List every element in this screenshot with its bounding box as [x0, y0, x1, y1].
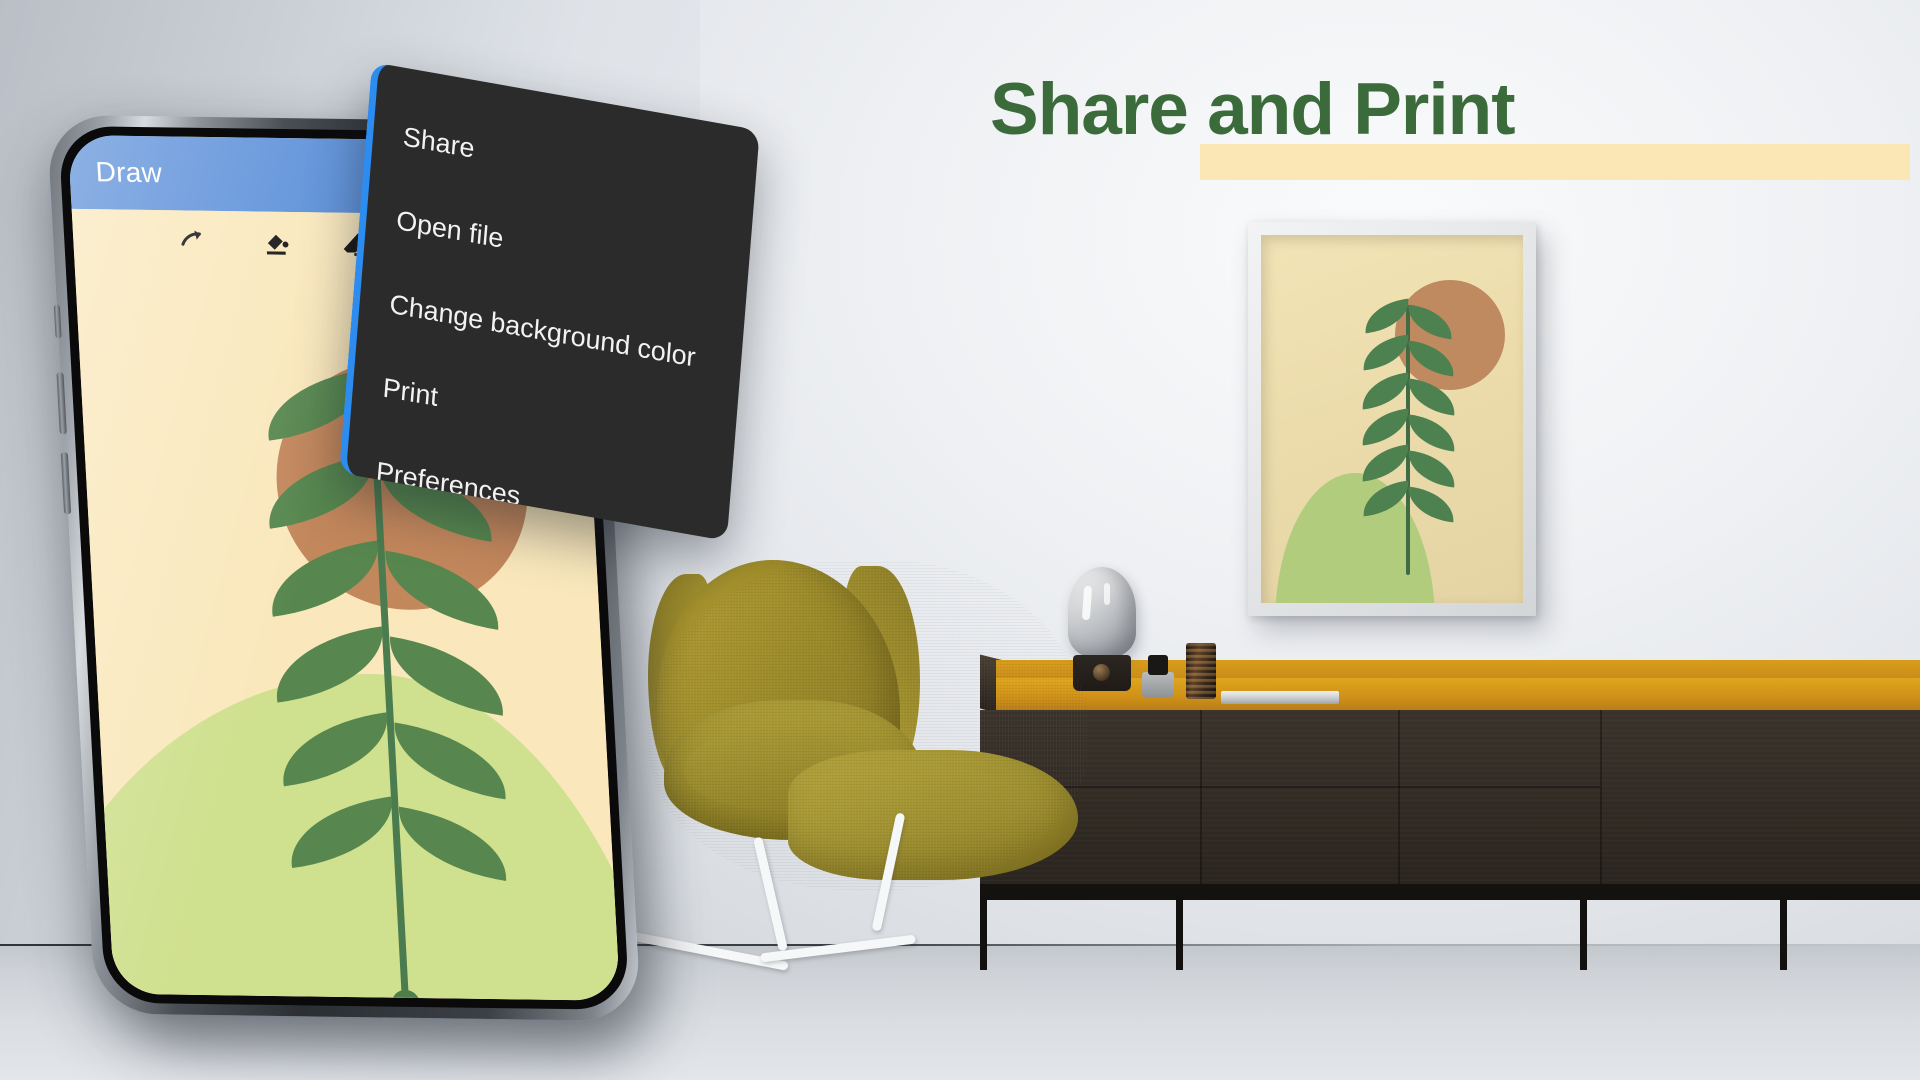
cabinet-seam [1200, 710, 1202, 886]
sideboard-leg [1780, 898, 1787, 970]
book [1221, 691, 1339, 704]
sideboard [980, 660, 1920, 950]
poster-leaf [1359, 445, 1411, 482]
poster-artwork [1261, 235, 1523, 603]
chair-armrest [788, 750, 1078, 880]
sideboard-body [980, 710, 1920, 886]
sideboard-ledge-face [996, 678, 1920, 710]
chair-leg [753, 836, 788, 951]
poster-leaf [1405, 451, 1457, 488]
cabinet-seam [1600, 710, 1602, 886]
small-jar [1142, 672, 1174, 698]
headline: Share and Print [990, 68, 1515, 151]
overflow-menu[interactable]: Share Open file Change background color … [339, 62, 760, 541]
app-title: Draw [95, 156, 163, 189]
sideboard-leg [1176, 898, 1183, 970]
poster-leaf [1359, 373, 1411, 410]
color-picker-icon[interactable] [257, 225, 293, 259]
poster-leaf [1406, 487, 1457, 523]
redo-icon[interactable] [177, 224, 213, 258]
screenshot-stage: Share and Print Draw [0, 0, 1920, 1080]
vase-texture [1186, 643, 1216, 699]
page-title: Share and Print [990, 68, 1515, 151]
sideboard-base [980, 884, 1920, 900]
jar-lid [1148, 655, 1168, 675]
poster-leaf [1405, 415, 1457, 452]
decorative-vase [1186, 643, 1216, 699]
poster-leaf [1359, 409, 1411, 446]
sideboard-leg [1580, 898, 1587, 970]
framed-poster [1248, 222, 1536, 616]
lounge-chair [648, 560, 1118, 960]
wood-grain [980, 710, 1920, 886]
cabinet-seam [1398, 710, 1400, 886]
